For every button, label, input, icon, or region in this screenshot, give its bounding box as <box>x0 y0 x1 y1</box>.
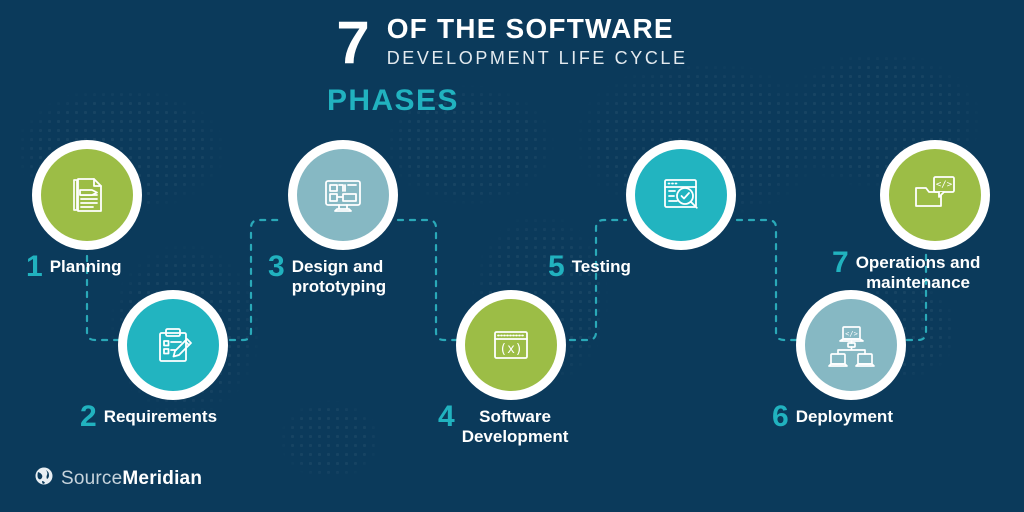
code-window-icon: (x) <box>486 320 536 370</box>
phase-node-deployment[interactable]: </> <box>796 290 906 400</box>
phase-node-planning[interactable] <box>32 140 142 250</box>
brand-logo-text: SourceMeridian <box>61 468 202 490</box>
phase-text-2: Requirements <box>104 402 217 427</box>
globe-icon <box>34 466 54 491</box>
network-deployment-icon: </> <box>825 319 877 371</box>
svg-text:(x): (x) <box>499 342 522 357</box>
header-phases-word: PHASES <box>327 84 459 118</box>
document-pencil-icon <box>63 171 111 219</box>
header-title-sub: DEVELOPMENT LIFE CYCLE <box>387 46 688 70</box>
phase-text-5: Testing <box>572 252 631 277</box>
phase-number-3: 3 <box>268 252 285 282</box>
phase-label-deployment: 6 Deployment <box>772 402 893 432</box>
header-title-main: OF THE SOFTWARE <box>387 14 688 43</box>
phase-label-software-development: 4 SoftwareDevelopment <box>438 402 568 447</box>
phase-number-4: 4 <box>438 402 455 432</box>
brand-logo[interactable]: SourceMeridian <box>34 466 202 491</box>
phase-label-testing: 5 Testing <box>548 252 631 282</box>
header: 7 OF THE SOFTWARE DEVELOPMENT LIFE CYCLE <box>0 14 1024 71</box>
folder-code-bubble-icon: </> <box>910 170 960 220</box>
phase-text-3: Design andprototyping <box>292 252 386 297</box>
phase-text-7: Operations andmaintenance <box>856 248 981 293</box>
phase-label-planning: 1 Planning <box>26 252 121 282</box>
phase-number-6: 6 <box>772 402 789 432</box>
header-number: 7 <box>336 14 368 71</box>
phase-label-operations-maintenance: 7 Operations andmaintenance <box>832 248 980 293</box>
phase-number-2: 2 <box>80 402 97 432</box>
phase-node-operations-maintenance[interactable]: </> <box>880 140 990 250</box>
clipboard-pencil-icon <box>149 321 197 369</box>
phase-node-requirements[interactable] <box>118 290 228 400</box>
phase-node-software-development[interactable]: (x) <box>456 290 566 400</box>
phase-node-design[interactable] <box>288 140 398 250</box>
browser-magnifier-check-icon <box>656 170 706 220</box>
svg-text:</>: </> <box>936 180 953 190</box>
phase-number-5: 5 <box>548 252 565 282</box>
phase-label-requirements: 2 Requirements <box>80 402 217 432</box>
phase-text-4: SoftwareDevelopment <box>462 402 569 447</box>
infographic-canvas: 7 OF THE SOFTWARE DEVELOPMENT LIFE CYCLE… <box>0 0 1024 512</box>
monitor-wireframe-icon <box>318 170 368 220</box>
phase-label-design: 3 Design andprototyping <box>268 252 386 297</box>
phase-text-6: Deployment <box>796 402 893 427</box>
svg-text:</>: </> <box>845 330 858 338</box>
phase-number-7: 7 <box>832 248 849 278</box>
phase-text-1: Planning <box>50 252 122 277</box>
phase-node-testing[interactable] <box>626 140 736 250</box>
phase-number-1: 1 <box>26 252 43 282</box>
